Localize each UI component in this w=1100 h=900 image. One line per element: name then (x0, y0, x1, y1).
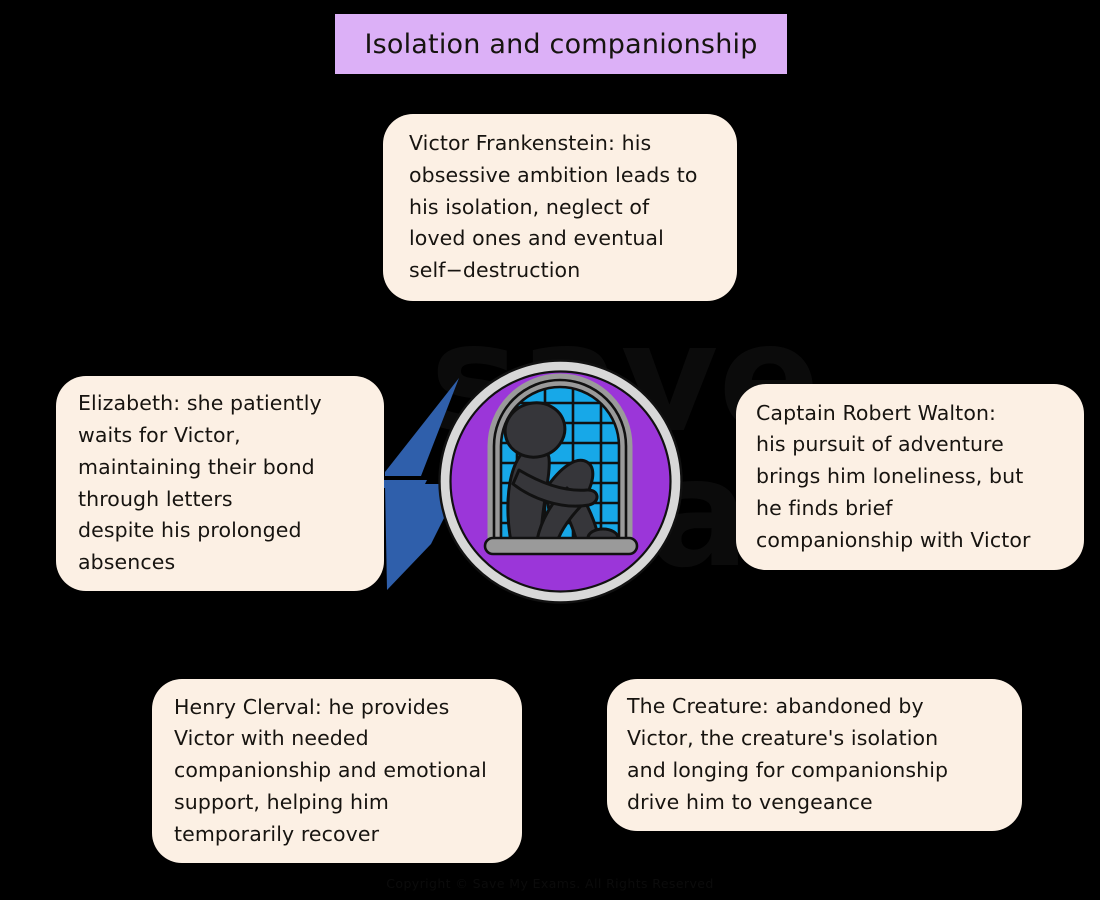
callout-elizabeth[interactable]: Elizabeth: she patiently waits for Victo… (56, 376, 384, 591)
diagram-canvas: Isolation and companionship save exam (0, 0, 1100, 900)
callout-henry-clerval[interactable]: Henry Clerval: he provides Victor with n… (152, 679, 522, 863)
callout-walton-text: Captain Robert Walton: his pursuit of ad… (736, 398, 1049, 557)
page-title-text: Isolation and companionship (364, 29, 757, 60)
lonely-figure-emblem (437, 358, 684, 605)
page-title: Isolation and companionship (335, 14, 787, 74)
callout-victor-frankenstein[interactable]: Victor Frankenstein: his obsessive ambit… (383, 114, 737, 301)
callout-henry-text: Henry Clerval: he provides Victor with n… (152, 692, 505, 851)
callout-creature-text: The Creature: abandoned by Victor, the c… (607, 691, 966, 818)
callout-the-creature[interactable]: The Creature: abandoned by Victor, the c… (607, 679, 1022, 831)
callout-captain-robert-walton[interactable]: Captain Robert Walton: his pursuit of ad… (736, 384, 1084, 570)
window-sill (485, 538, 637, 554)
callout-elizabeth-text: Elizabeth: she patiently waits for Victo… (56, 388, 342, 579)
callout-victor-text: Victor Frankenstein: his obsessive ambit… (383, 128, 724, 287)
copyright-notice: Copyright © Save My Exams. All Rights Re… (0, 876, 1100, 891)
